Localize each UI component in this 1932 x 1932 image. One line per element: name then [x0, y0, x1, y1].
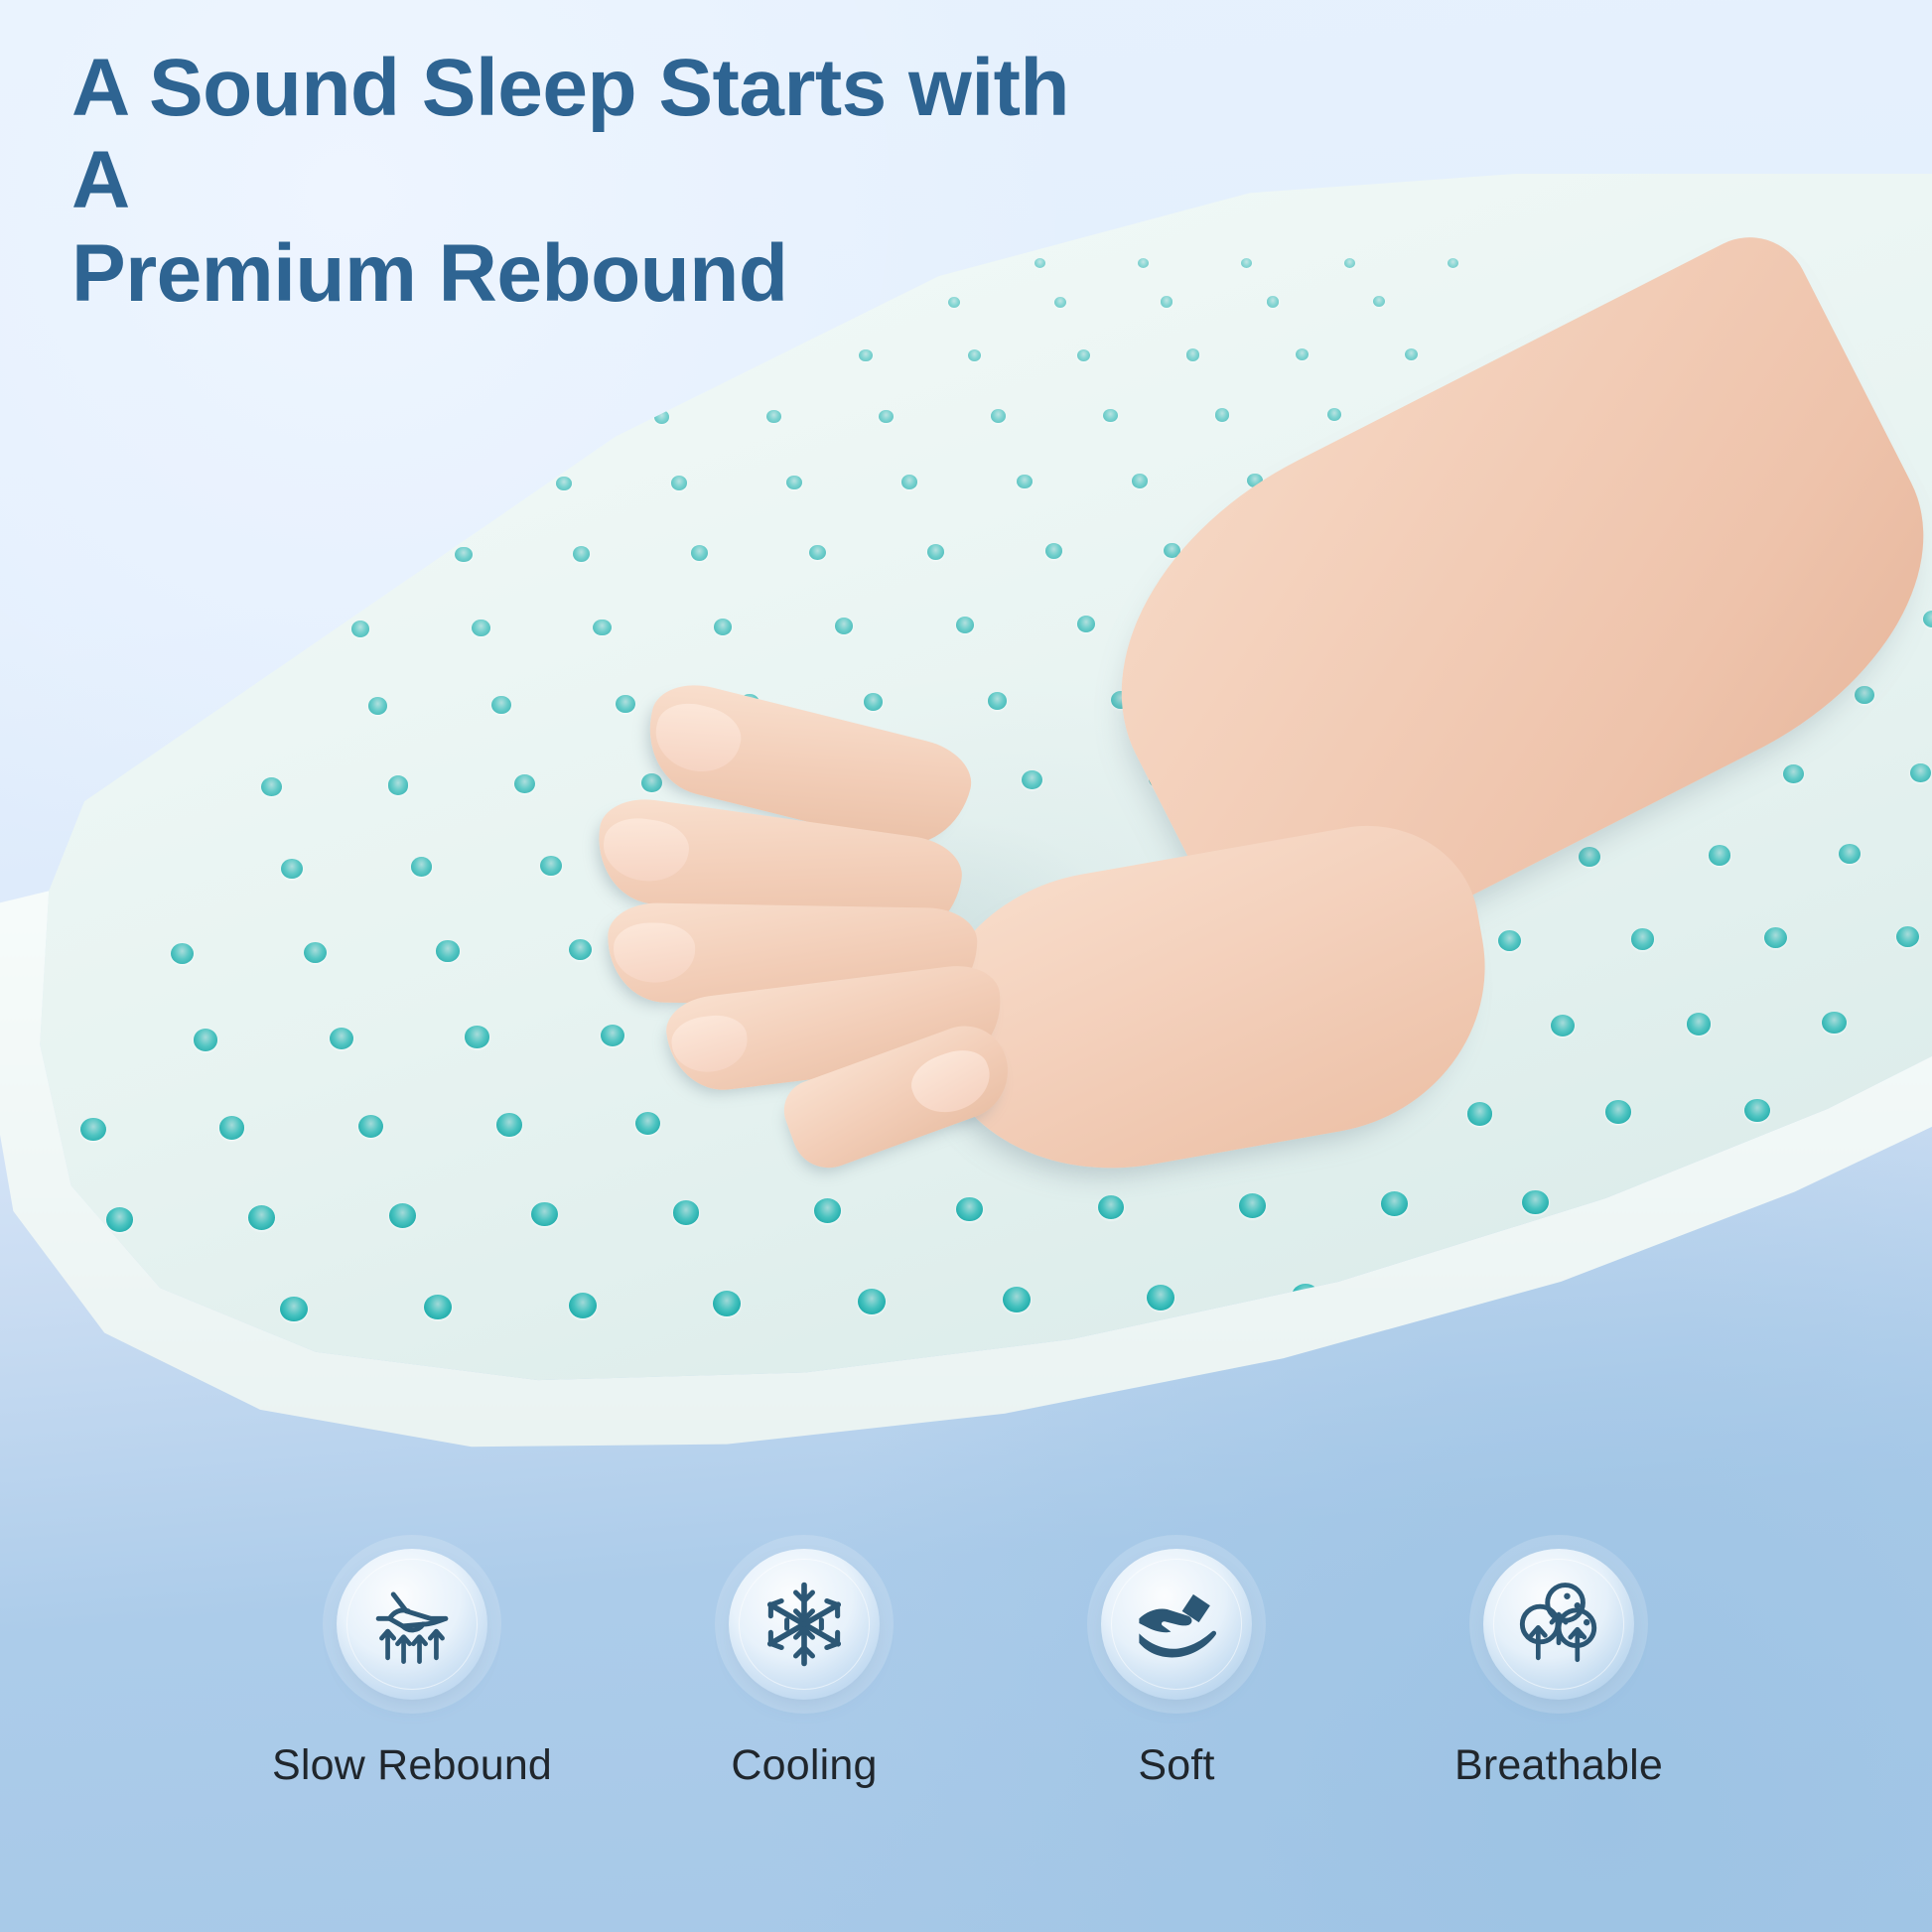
- foam-ventilation-hole: [616, 695, 635, 713]
- foam-ventilation-hole: [573, 546, 590, 562]
- foam-ventilation-hole: [261, 777, 282, 796]
- fingernail: [614, 922, 696, 983]
- fingernail: [669, 1012, 751, 1076]
- index-finger: [635, 675, 979, 859]
- foam-ventilation-hole: [1381, 1191, 1408, 1216]
- feature-label: Breathable: [1410, 1741, 1708, 1790]
- foam-ventilation-hole: [1579, 847, 1600, 867]
- foam-ventilation-hole: [351, 621, 369, 637]
- foam-ventilation-hole: [1883, 1097, 1909, 1121]
- foam-ventilation-hole: [737, 1023, 760, 1044]
- foam-ventilation-hole: [593, 620, 611, 636]
- foam-ventilation-hole: [1241, 258, 1252, 268]
- foam-ventilation-hole: [330, 1028, 353, 1049]
- foam-ventilation-hole: [1764, 927, 1787, 948]
- thumb: [775, 1014, 1022, 1177]
- foam-ventilation-hole: [1186, 348, 1199, 360]
- foam-ventilation-hole: [1522, 1190, 1549, 1215]
- foam-ventilation-hole: [1247, 474, 1263, 488]
- foam-ventilation-hole: [531, 350, 544, 362]
- foam-ventilation-hole: [531, 1202, 558, 1227]
- foam-ventilation-hole: [1822, 1012, 1846, 1034]
- foam-ventilation-hole: [194, 1029, 217, 1050]
- foam-ventilation-hole: [1656, 765, 1677, 784]
- foam-ventilation-hole: [491, 696, 511, 714]
- foam-ventilation-hole: [635, 1112, 661, 1136]
- foam-ventilation-hole: [1896, 926, 1919, 947]
- foam-ventilation-hole: [1239, 1193, 1266, 1218]
- foam-ventilation-hole: [1664, 1188, 1691, 1213]
- foam-ventilation-hole: [1869, 1276, 1897, 1302]
- foam-ventilation-hole: [1855, 686, 1874, 704]
- foam-ventilation-hole: [654, 410, 669, 423]
- foam-ventilation-hole: [1783, 764, 1804, 783]
- foam-ventilation-hole: [1581, 1280, 1608, 1306]
- foam-ventilation-hole: [991, 409, 1006, 422]
- cloud-airflow-arrows-icon: [1512, 1578, 1605, 1671]
- foam-ventilation-hole: [750, 349, 762, 361]
- foam-ventilation-hole: [1405, 348, 1418, 360]
- little-finger: [662, 961, 1007, 1096]
- foam-ventilation-hole: [280, 1297, 308, 1322]
- foam-ventilation-hole: [368, 697, 388, 715]
- foam-ventilation-hole: [1923, 611, 1932, 627]
- foam-ventilation-hole: [1292, 1284, 1319, 1310]
- foam-ventilation-hole: [1327, 408, 1342, 421]
- snowflake-icon: [758, 1578, 851, 1671]
- foam-ventilation-hole: [1003, 1287, 1031, 1312]
- feature-cooling[interactable]: Cooling: [655, 1549, 953, 1790]
- foam-ventilation-hole: [1373, 296, 1385, 307]
- foam-ventilation-hole: [1103, 409, 1118, 422]
- feature-list: Slow Rebound: [0, 1549, 1932, 1876]
- foam-ventilation-hole: [809, 545, 826, 561]
- foam-ventilation-hole: [786, 476, 802, 490]
- foam-ventilation-hole: [1215, 408, 1230, 421]
- foam-ventilation-hole: [1098, 1195, 1125, 1220]
- foam-ventilation-hole: [1709, 845, 1730, 865]
- foam-ventilation-hole: [879, 410, 894, 423]
- foam-ventilation-hole: [436, 940, 459, 961]
- foam-ventilation-hole: [859, 349, 872, 361]
- foam-ventilation-hole: [1267, 296, 1279, 307]
- page-title: A Sound Sleep Starts with A Premium Rebo…: [71, 42, 1144, 320]
- foam-ventilation-hole: [569, 939, 592, 960]
- foam-ventilation-hole: [1687, 1013, 1711, 1035]
- foam-ventilation-hole: [956, 1197, 983, 1222]
- foam-ventilation-hole: [901, 475, 917, 489]
- foam-ventilation-hole: [768, 772, 789, 791]
- foam-front-bevel: [0, 174, 1932, 1454]
- foam-ventilation-hole: [956, 617, 974, 633]
- foam-ventilation-hole: [1045, 543, 1062, 559]
- foam-ventilation-hole: [0, 1300, 18, 1325]
- foam-ventilation-hole: [1235, 690, 1255, 708]
- feature-badge: [729, 1549, 880, 1700]
- foam-ventilation-hole: [441, 477, 457, 491]
- feature-badge: [337, 1549, 487, 1700]
- foam-ventilation-hole: [171, 943, 194, 964]
- foam-ventilation-hole: [714, 619, 732, 635]
- foam-ventilation-hole: [80, 1118, 106, 1142]
- foam-ventilation-hole: [569, 1293, 597, 1318]
- palm: [911, 808, 1511, 1198]
- foam-ventilation-hole: [1164, 543, 1180, 559]
- feature-soft[interactable]: Soft: [1028, 1549, 1325, 1790]
- foam-ventilation-hole: [1448, 258, 1458, 268]
- product-banner: A Sound Sleep Starts with A Premium Rebo…: [0, 0, 1932, 1932]
- foam-ventilation-hole: [864, 693, 884, 711]
- foam-ventilation-hole: [106, 1207, 133, 1232]
- foam-ventilation-hole: [1839, 844, 1861, 864]
- foam-ventilation-hole: [671, 476, 687, 490]
- foam-ventilation-hole: [1725, 1278, 1753, 1304]
- foam-ventilation-hole: [424, 1295, 452, 1320]
- hand-holding-pillow-icon: [1130, 1578, 1223, 1671]
- foam-ventilation-hole: [1498, 930, 1521, 951]
- hand-press-rebound-arrows-icon: [365, 1578, 459, 1671]
- foam-ventilation-hole: [455, 547, 472, 563]
- foam-ventilation-hole: [1744, 1099, 1770, 1123]
- foam-ventilation-hole: [1077, 616, 1095, 632]
- foam-ventilation-hole: [514, 774, 535, 793]
- foam-ventilation-hole: [1132, 474, 1148, 488]
- foam-ventilation-hole: [640, 350, 653, 362]
- foam-ventilation-hole: [927, 544, 944, 560]
- foam-ventilation-hole: [1161, 296, 1173, 307]
- foam-ventilation-hole: [135, 1298, 163, 1323]
- foam-ventilation-hole: [304, 942, 327, 963]
- foam-ventilation-hole: [1017, 475, 1033, 489]
- foam-ventilation-hole: [1910, 763, 1931, 782]
- foam-ventilation-hole: [496, 1113, 522, 1137]
- foam-ventilation-hole: [1467, 1102, 1493, 1126]
- foam-ventilation-hole: [1197, 616, 1215, 632]
- feature-label: Soft: [1028, 1741, 1325, 1790]
- foam-ventilation-hole: [713, 1291, 741, 1316]
- foam-ventilation-hole: [673, 1200, 700, 1225]
- thumbnail: [904, 1041, 999, 1123]
- foam-ventilation-hole: [1605, 1100, 1631, 1124]
- fingernail: [648, 696, 747, 780]
- middle-finger: [591, 793, 967, 946]
- foam-ventilation-hole: [1806, 1186, 1833, 1211]
- foam-ventilation-hole: [1022, 770, 1042, 789]
- foam-ventilation-hole: [641, 773, 662, 792]
- foam-ventilation-hole: [465, 1026, 488, 1047]
- foam-ventilation-hole: [858, 1289, 886, 1314]
- foam-ventilation-hole: [835, 618, 853, 634]
- feature-label: Cooling: [655, 1741, 953, 1790]
- foam-ventilation-hole: [556, 477, 572, 491]
- foam-ventilation-hole: [1551, 1015, 1575, 1036]
- foam-ventilation-hole: [411, 857, 433, 877]
- foam-ventilation-hole: [542, 411, 557, 424]
- foam-ventilation-hole: [968, 349, 981, 361]
- foam-ventilation-hole: [1111, 691, 1131, 709]
- foam-ventilation-hole: [472, 620, 489, 636]
- foam-ventilation-hole: [988, 692, 1008, 710]
- foam-ventilation-hole: [670, 855, 692, 875]
- foam-ventilation-hole: [1147, 1285, 1174, 1311]
- foam-ventilation-hole: [814, 1198, 841, 1223]
- foam-ventilation-hole: [388, 775, 409, 794]
- foam-ventilation-hole: [740, 694, 759, 712]
- foam-ventilation-hole: [219, 1116, 245, 1140]
- feature-breathable[interactable]: Breathable: [1410, 1549, 1708, 1790]
- foam-ventilation-hole: [691, 545, 708, 561]
- foam-ventilation-hole: [1344, 258, 1355, 268]
- foam-ventilation-hole: [1077, 349, 1090, 361]
- foam-slab: [0, 174, 1932, 1454]
- foam-ventilation-hole: [766, 410, 781, 423]
- foam-ventilation-hole: [281, 859, 303, 879]
- foam-ventilation-hole: [601, 1025, 624, 1046]
- foam-ventilation-hole: [248, 1205, 275, 1230]
- foam-ventilation-hole: [1631, 928, 1654, 949]
- ring-finger: [607, 902, 978, 1008]
- feature-badge: [1483, 1549, 1634, 1700]
- feature-badge: [1101, 1549, 1252, 1700]
- foam-ventilation-hole: [1149, 769, 1170, 788]
- fingernail: [600, 814, 693, 887]
- feature-label: Slow Rebound: [263, 1741, 561, 1790]
- foam-ventilation-hole: [702, 938, 725, 959]
- foam-ventilation-hole: [1436, 1282, 1463, 1308]
- forearm: [1050, 216, 1932, 1002]
- foam-ventilation-hole: [540, 856, 562, 876]
- foam-ventilation-hole: [389, 1203, 416, 1228]
- feature-slow-rebound[interactable]: Slow Rebound: [263, 1549, 561, 1790]
- foam-ventilation-hole: [1296, 348, 1309, 360]
- foam-ventilation-hole: [358, 1115, 384, 1139]
- foam-ventilation-hole: [896, 771, 916, 790]
